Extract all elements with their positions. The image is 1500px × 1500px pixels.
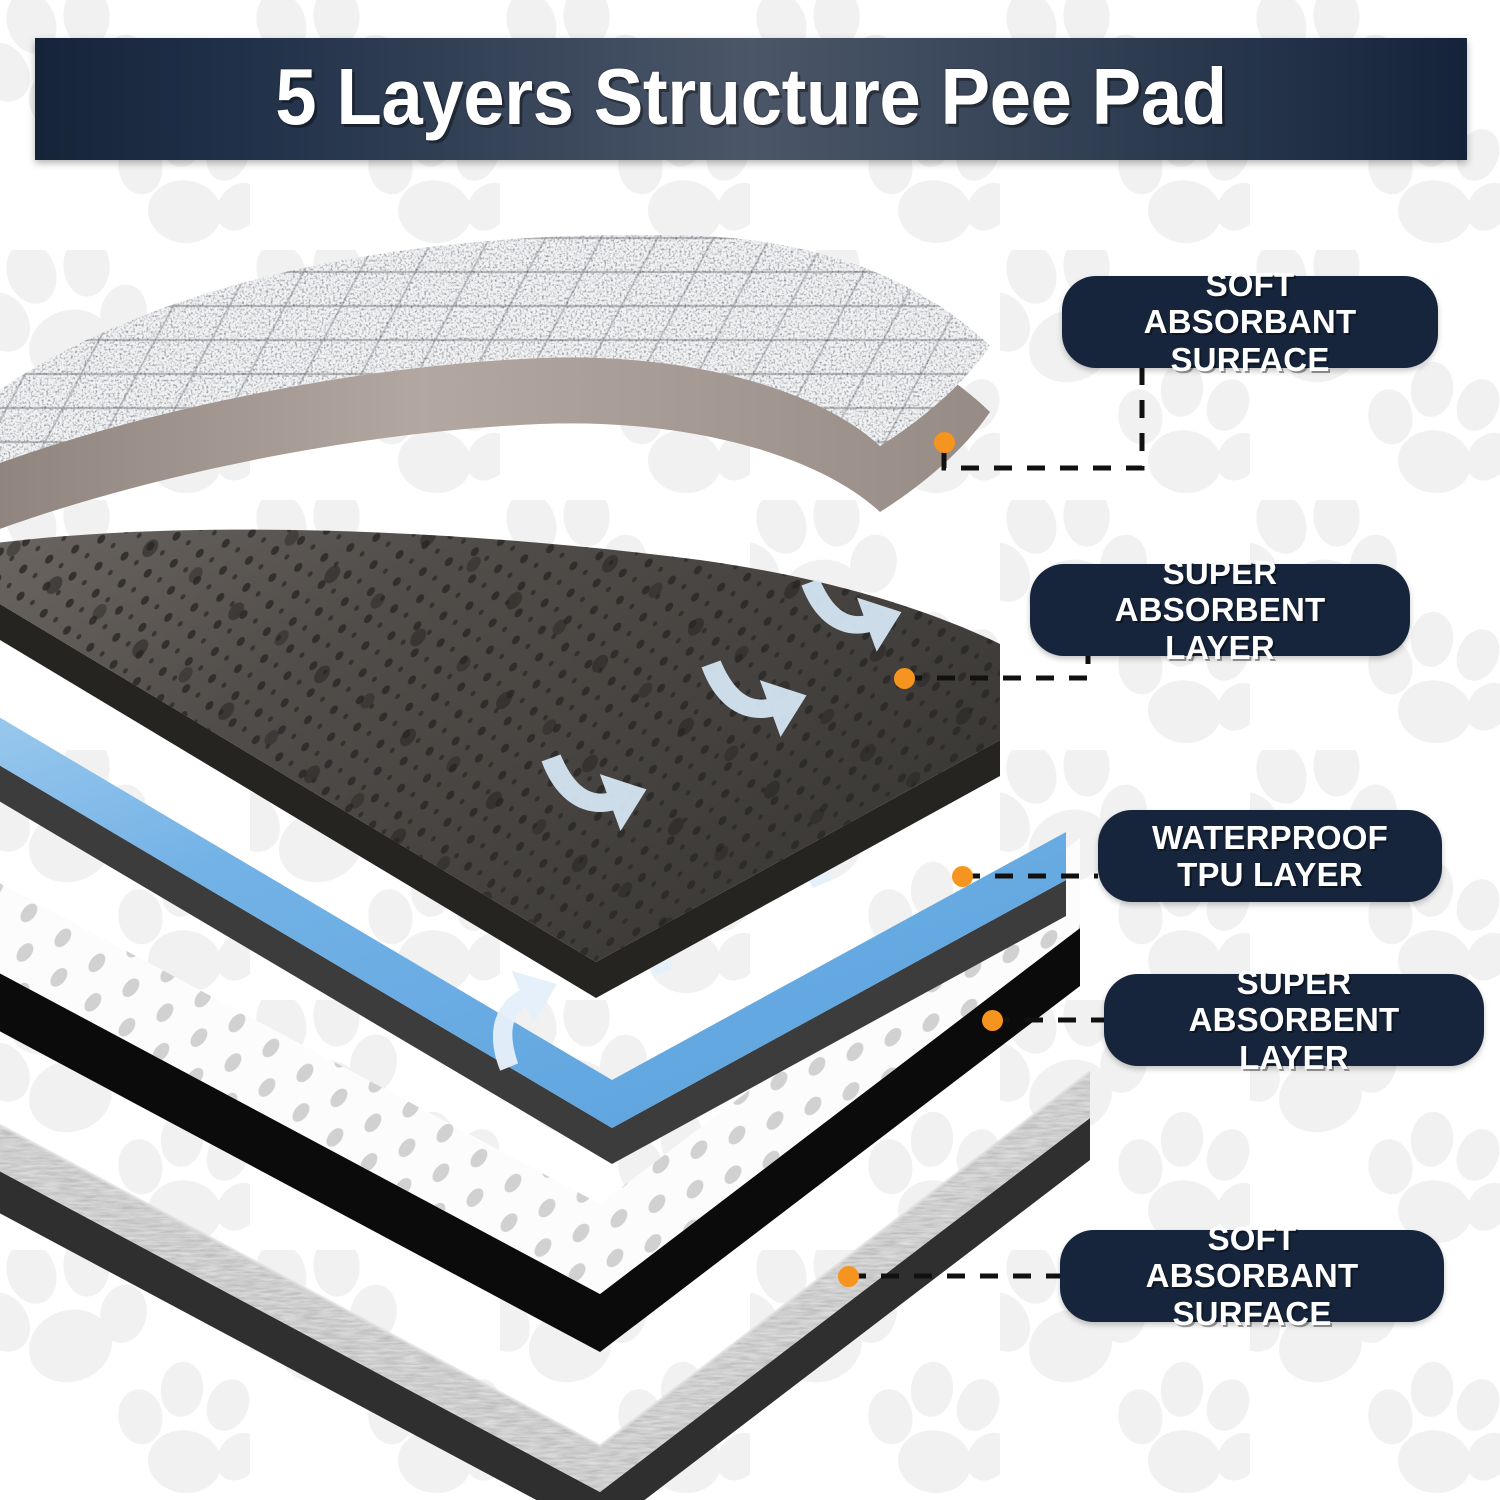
callout-label-5: SOFT ABSORBANT SURFACE (1086, 1220, 1418, 1332)
title-banner: 5 Layers Structure Pee Pad (35, 38, 1467, 160)
callout-label-1: SOFT ABSORBANT SURFACE (1088, 266, 1412, 378)
anchor-dot-2 (894, 668, 915, 689)
callout-label-4: SUPER ABSORBENT LAYER (1130, 964, 1458, 1076)
anchor-dot-1 (934, 432, 955, 453)
callout-label-2: SUPER ABSORBENT LAYER (1056, 554, 1384, 666)
callout-soft-absorbant-surface-bottom[interactable]: SOFT ABSORBANT SURFACE (1060, 1230, 1444, 1322)
callout-super-absorbent-layer-upper[interactable]: SUPER ABSORBENT LAYER (1030, 564, 1410, 656)
callout-super-absorbent-layer-lower[interactable]: SUPER ABSORBENT LAYER (1104, 974, 1484, 1066)
layer-soft-absorbant-surface-top (0, 235, 990, 544)
page-title: 5 Layers Structure Pee Pad (85, 51, 1417, 143)
callout-waterproof-tpu-layer[interactable]: WATERPROOF TPU LAYER (1098, 810, 1442, 902)
callout-label-3: WATERPROOF TPU LAYER (1152, 819, 1388, 894)
anchor-dot-4 (982, 1010, 1003, 1031)
layer-super-absorbent-upper (0, 530, 1000, 998)
anchor-dot-3 (952, 866, 973, 887)
anchor-dot-5 (838, 1266, 859, 1287)
infographic-canvas: 5 Layers Structure Pee Pad SOFT ABSORBAN… (0, 0, 1500, 1500)
callout-soft-absorbant-surface-top[interactable]: SOFT ABSORBANT SURFACE (1062, 276, 1438, 368)
